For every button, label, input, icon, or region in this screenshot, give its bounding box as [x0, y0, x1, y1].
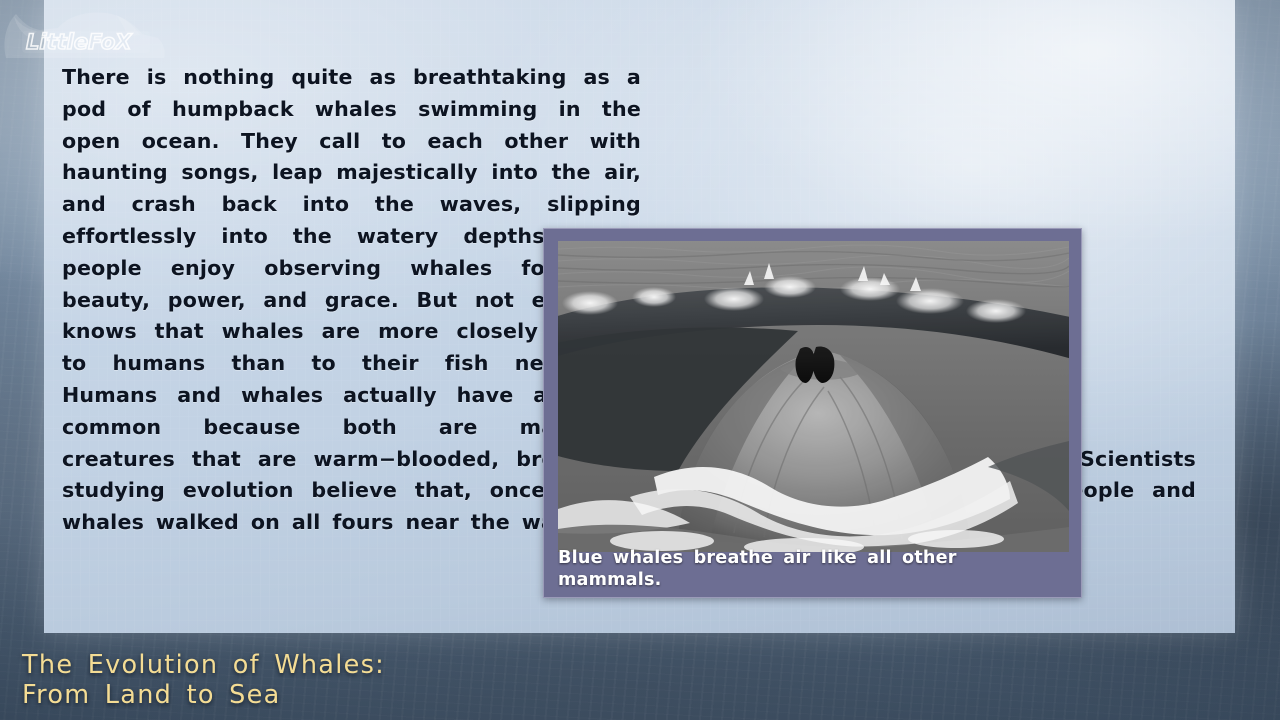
- figure-frame: Blue whales breathe air like all other m…: [543, 228, 1082, 598]
- lesson-title-line-2: From Land to Sea: [22, 680, 385, 710]
- figure-caption: Blue whales breathe air like all other m…: [558, 547, 1069, 591]
- lesson-slide: LittleFoX There is nothing quite as brea…: [0, 0, 1280, 720]
- little-fox-logo: LittleFoX: [0, 8, 168, 60]
- logo-wordmark: LittleFoX: [26, 30, 133, 54]
- lesson-title: The Evolution of Whales: From Land to Se…: [22, 650, 385, 710]
- lesson-title-line-1: The Evolution of Whales:: [22, 650, 385, 680]
- blue-whale-surfacing-photo: [558, 241, 1069, 552]
